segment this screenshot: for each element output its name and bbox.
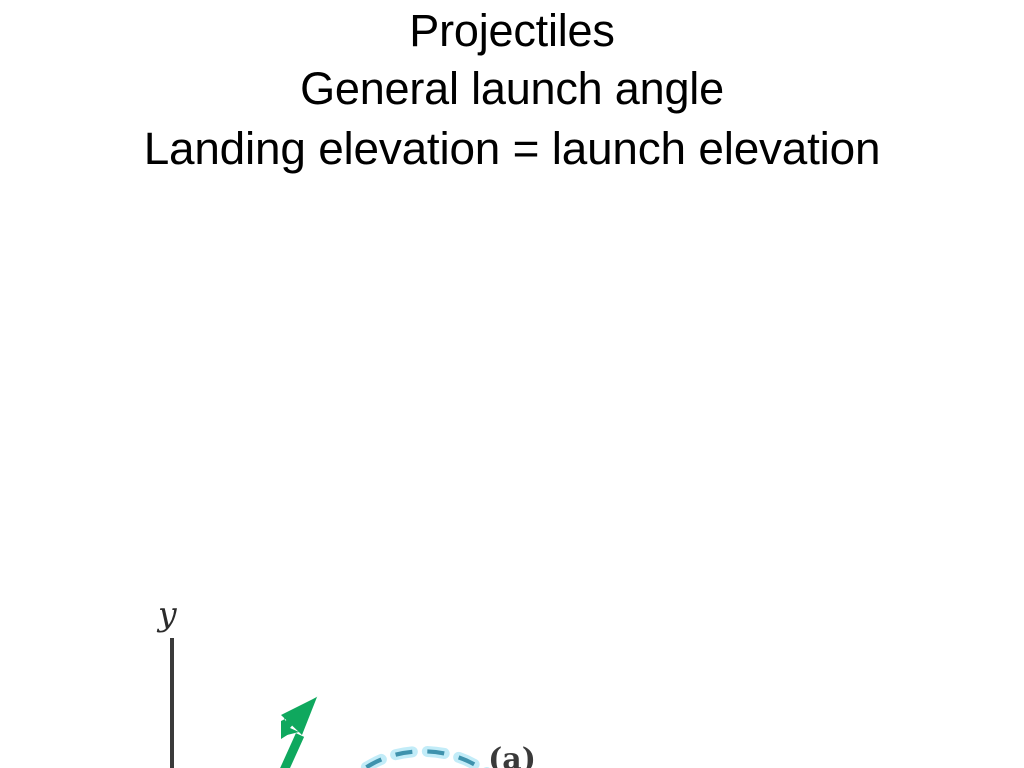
y-axis-label: y (156, 594, 177, 633)
slide-title-block: Projectiles General launch angle Landing… (0, 0, 1024, 179)
figure-caption: (a) (0, 742, 1024, 768)
projectile-diagram: y x O θ v 0 (0, 190, 1024, 768)
page-title-line-3: Landing elevation = launch elevation (0, 119, 1024, 179)
page-title-line-1: Projectiles (0, 2, 1024, 59)
page-title-line-2: General launch angle (0, 59, 1024, 119)
projectile-diagram-svg: y x O θ v 0 (0, 190, 1024, 768)
